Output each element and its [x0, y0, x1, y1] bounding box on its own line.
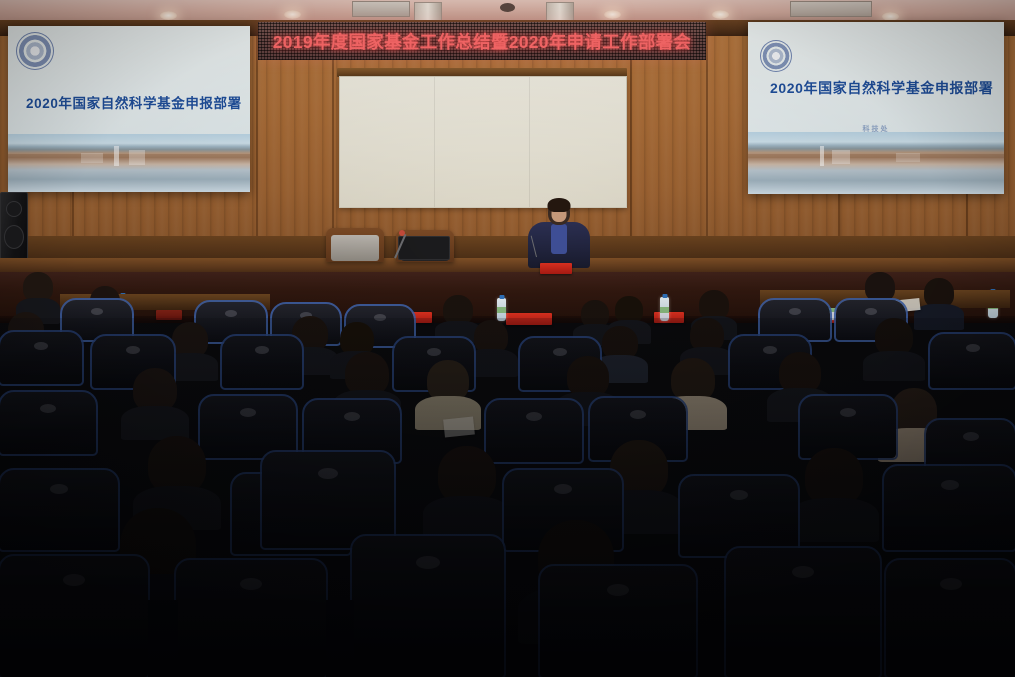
microphone-head-icon: [399, 230, 405, 236]
conference-hall-photo: 2019年度国家基金工作总结暨2020年申请工作部署会 2020年国家自然科学基…: [0, 0, 1015, 677]
wall-loudspeaker: [0, 192, 28, 262]
audience-member: [796, 448, 872, 536]
aisle-floor: [148, 600, 178, 677]
auditorium-seat: [0, 470, 118, 550]
notebook-page: [443, 416, 475, 437]
university-emblem-icon: [760, 40, 792, 72]
auditorium-seat: [886, 560, 1015, 677]
auditorium-seat: [222, 336, 302, 388]
audience-member: [918, 278, 960, 324]
water-bottle: [497, 298, 506, 321]
auditorium-seat: [352, 536, 504, 677]
recessed-downlight-icon: [604, 10, 621, 19]
auditorium-seat: [540, 566, 696, 677]
banner-text: 2019年度国家基金工作总结暨2020年申请工作部署会: [273, 29, 691, 54]
auditorium-seat: [760, 300, 830, 340]
center-projection-screen: [339, 76, 627, 208]
wall-wainscot: [0, 236, 1015, 260]
slide-campus-photo: [748, 132, 1004, 194]
auditorium-seat: [680, 476, 798, 556]
university-emblem-icon: [16, 32, 54, 70]
aisle-floor: [326, 600, 354, 677]
left-projection-screen: 2020年国家自然科学基金申报部署 科技处 2020: [8, 26, 250, 192]
nameplate: [156, 310, 182, 320]
auditorium-seat: [930, 334, 1015, 388]
slide-title: 2020年国家自然科学基金申报部署: [770, 78, 993, 98]
auditorium-seat: [200, 396, 296, 458]
laptop: [398, 236, 450, 260]
audience-member: [126, 368, 184, 434]
audience-member: [420, 360, 476, 424]
presenter: [524, 199, 594, 271]
auditorium-seat: [0, 392, 96, 454]
audience-member: [430, 446, 504, 532]
wall-seam: [630, 36, 632, 258]
recessed-downlight-icon: [160, 11, 177, 20]
slide-title: 2020年国家自然科学基金申报部署: [26, 92, 242, 112]
nameplate: [654, 312, 684, 323]
audience-member: [868, 318, 920, 374]
auditorium-seat: [262, 452, 394, 548]
led-banner: 2019年度国家基金工作总结暨2020年申请工作部署会: [258, 22, 706, 60]
auditorium-seat: [884, 466, 1015, 550]
wall-seam: [256, 36, 258, 258]
recessed-downlight-icon: [284, 10, 301, 19]
auditorium-seat: [176, 560, 326, 677]
wall-seam: [332, 36, 334, 258]
head-table-chair-left: [326, 228, 384, 262]
right-projection-screen: 2020年国家自然科学基金申报部署 科技处 2020: [748, 22, 1004, 194]
auditorium-seat: [726, 548, 880, 677]
air-vent-icon: [352, 1, 410, 17]
recessed-downlight-icon: [712, 10, 729, 19]
wall-seam: [706, 36, 708, 258]
ceiling-speaker-icon: [500, 3, 515, 12]
nameplate: [540, 263, 572, 274]
air-vent-icon: [790, 1, 872, 17]
water-bottle: [660, 297, 669, 321]
auditorium-seat: [0, 332, 82, 384]
auditorium-seat: [0, 556, 148, 677]
slide-campus-photo: [8, 134, 250, 192]
